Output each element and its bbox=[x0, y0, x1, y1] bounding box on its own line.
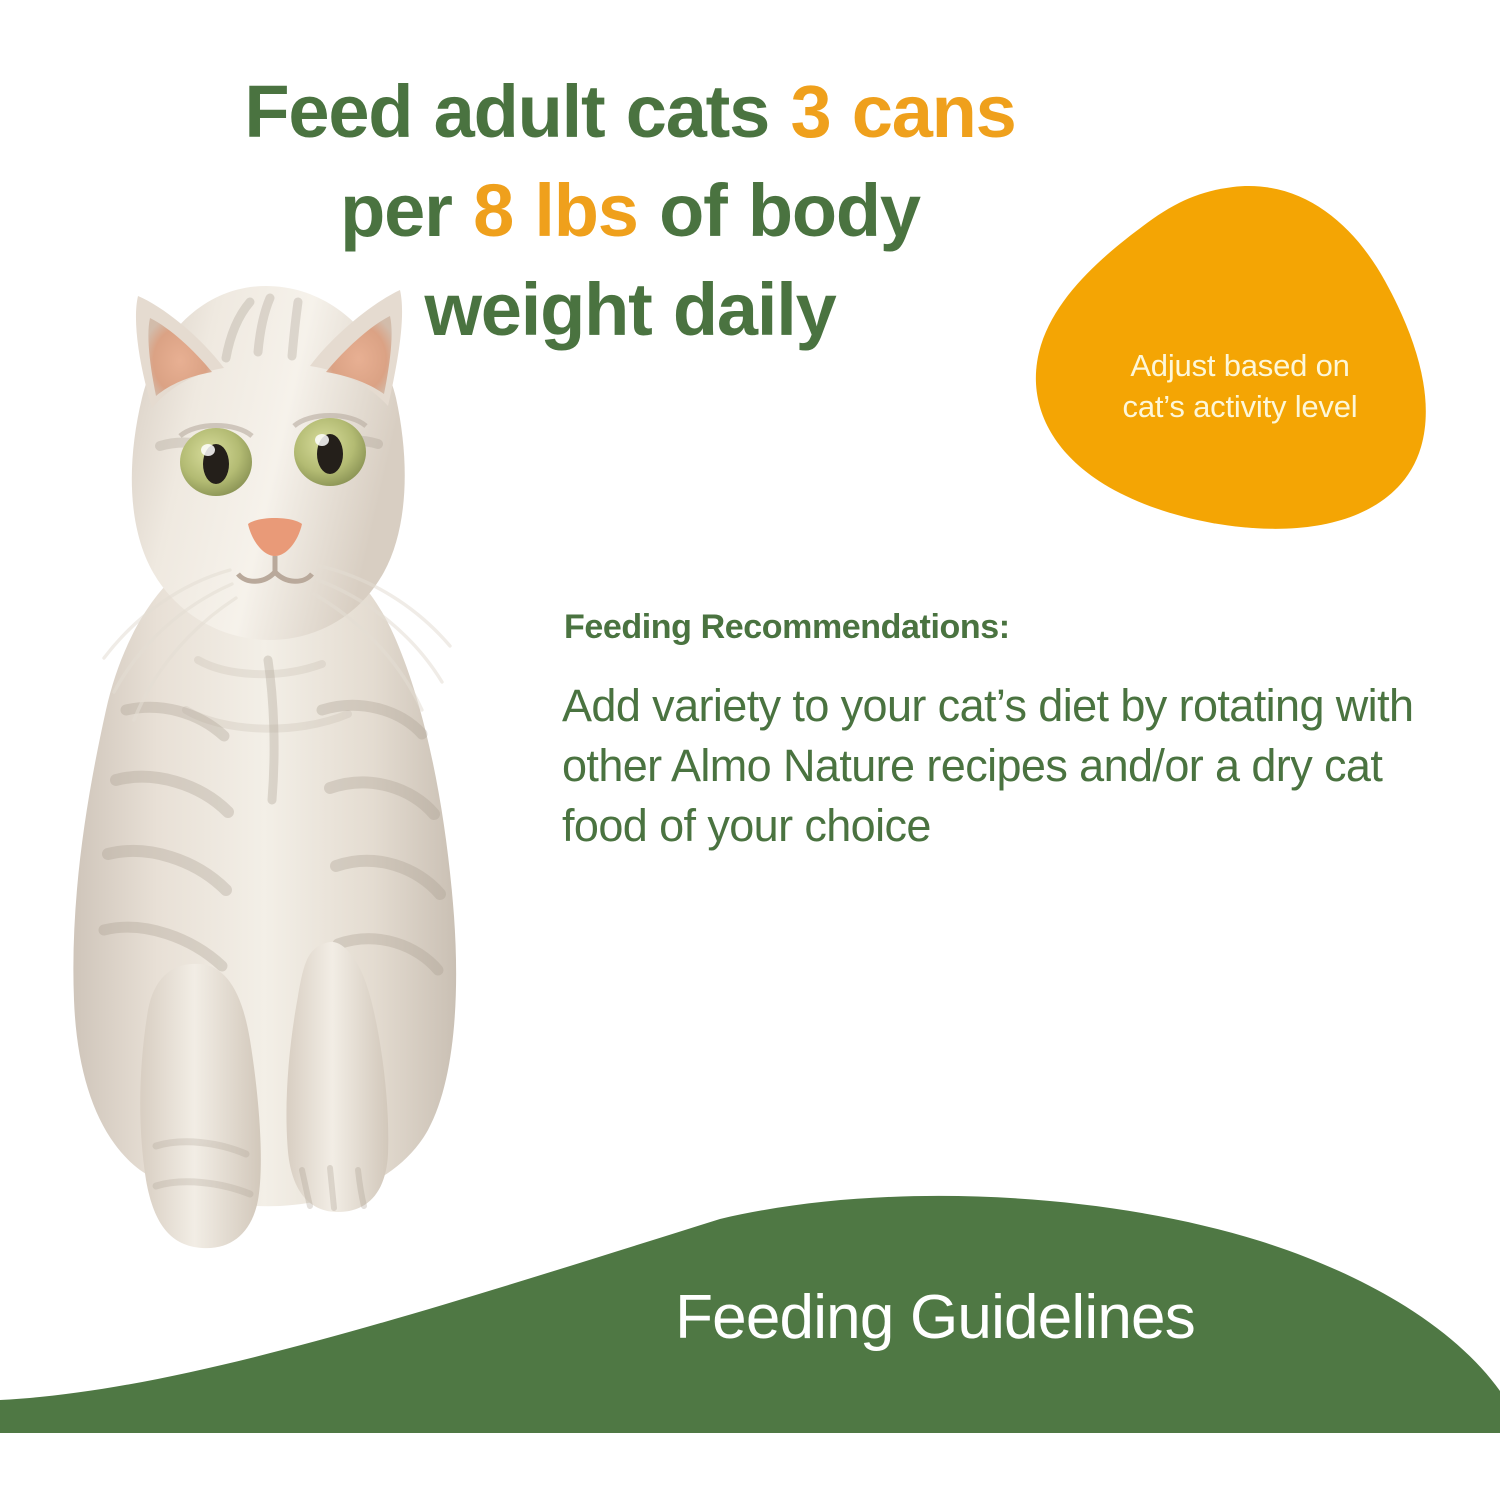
infographic-canvas: Feed adult cats 3 cans per 8 lbs of body… bbox=[0, 0, 1500, 1500]
headline-line-1: Feed adult cats 3 cans bbox=[244, 70, 1015, 153]
headline-text-feed-adult-cats: Feed adult cats bbox=[244, 70, 790, 153]
cat-illustration-icon bbox=[30, 240, 500, 1260]
recommendations-body: Add variety to your cat’s diet by rotati… bbox=[562, 676, 1422, 856]
callout-line-2: cat’s activity level bbox=[1123, 389, 1358, 424]
callout-line-1: Adjust based on bbox=[1130, 348, 1349, 383]
recommendations-heading: Feeding Recommendations: bbox=[564, 608, 1010, 647]
cat-photo bbox=[30, 240, 500, 1260]
callout-blob: Adjust based on cat’s activity level bbox=[1035, 185, 1445, 530]
headline-accent-cans: 3 cans bbox=[790, 70, 1015, 153]
footer-title: Feeding Guidelines bbox=[185, 1282, 1500, 1353]
headline-text-of-body: of body bbox=[638, 169, 920, 252]
callout-text: Adjust based on cat’s activity level bbox=[1073, 345, 1407, 427]
